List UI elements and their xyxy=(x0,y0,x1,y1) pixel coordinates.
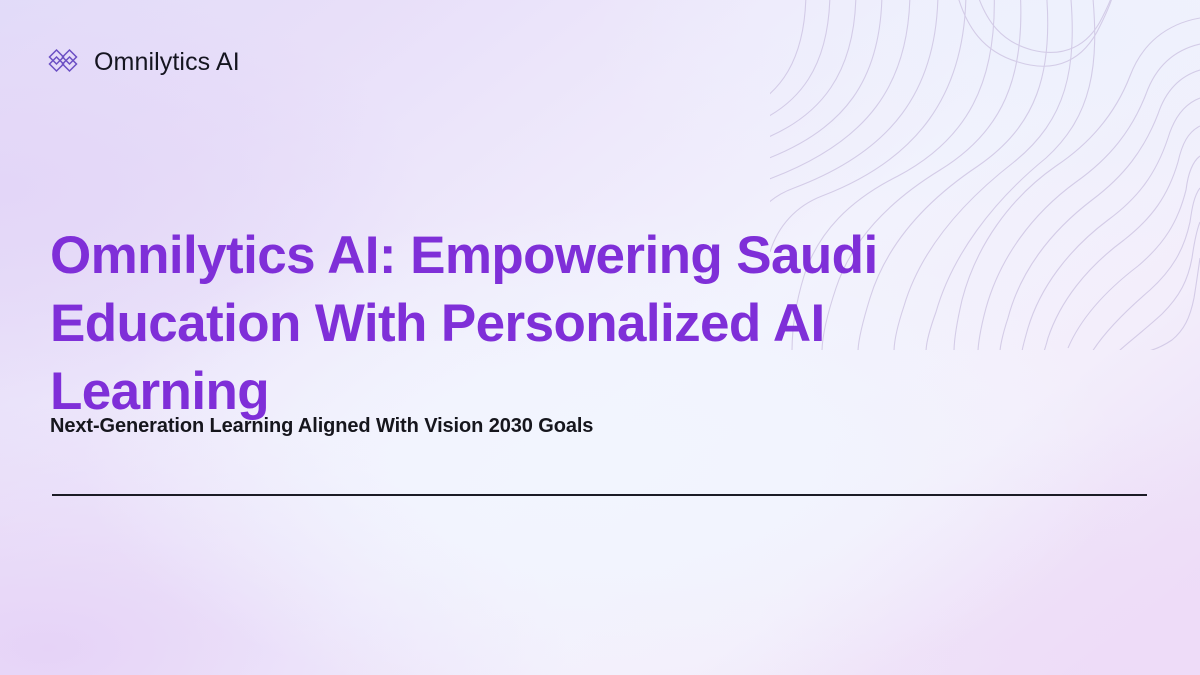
title-slide: Omnilytics AI Omnilytics AI: Empowering … xyxy=(0,0,1200,675)
divider xyxy=(52,494,1147,496)
interlocking-diamonds-logo-icon xyxy=(46,46,80,78)
brand-name: Omnilytics AI xyxy=(94,50,240,75)
page-title: Omnilytics AI: Empowering Saudi Educatio… xyxy=(50,222,1010,425)
title-block: Omnilytics AI: Empowering Saudi Educatio… xyxy=(50,222,1150,425)
page-subtitle: Next-Generation Learning Aligned With Vi… xyxy=(50,415,593,438)
brand-header: Omnilytics AI xyxy=(46,46,240,78)
